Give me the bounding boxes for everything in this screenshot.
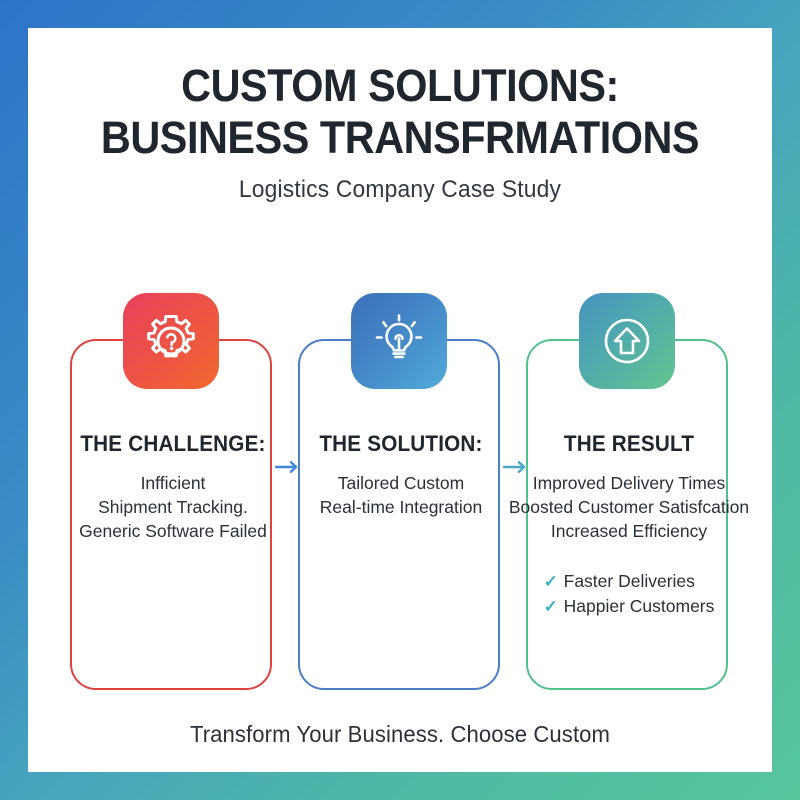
card-result-lines: Improved Delivery Times Boosted Customer… <box>498 471 760 543</box>
poster-header: CUSTOM SOLUTIONS: BUSINESS TRANSFRMATION… <box>28 60 772 204</box>
card-solution-lines: Tailored Custom Real-time Integration <box>270 471 532 519</box>
card-result: THE RESULT Improved Delivery Times Boost… <box>526 339 728 690</box>
gear-question-icon <box>123 293 219 389</box>
list-item: ✓ Happier Customers <box>544 594 715 619</box>
card-challenge: THE CHALLENGE: Infficient Shipment Track… <box>70 339 272 690</box>
card-result-heading: THE RESULT <box>506 431 752 457</box>
page-subtitle: Logistics Company Case Study <box>47 176 754 204</box>
card-challenge-line-3: Generic Software Failed <box>42 519 304 543</box>
lightbulb-icon <box>351 293 447 389</box>
bullet-label: Happier Customers <box>564 594 715 618</box>
card-solution: THE SOLUTION: Tailored Custom Real-time … <box>298 339 500 690</box>
arrow-up-circle-icon <box>579 293 675 389</box>
card-result-line-2: Boosted Customer Satisfcation <box>498 495 760 519</box>
check-icon: ✓ <box>544 595 564 619</box>
bullet-label: Faster Deliveries <box>564 569 695 593</box>
card-challenge-lines: Infficient Shipment Tracking. Generic So… <box>42 471 304 543</box>
card-solution-heading: THE SOLUTION: <box>278 431 524 457</box>
poster-canvas: CUSTOM SOLUTIONS: BUSINESS TRANSFRMATION… <box>28 28 772 772</box>
check-icon: ✓ <box>544 570 564 594</box>
card-result-body: THE RESULT Improved Delivery Times Boost… <box>498 431 760 619</box>
card-challenge-line-1: Infficient <box>42 471 304 495</box>
footer-tagline: Transform Your Business. Choose Custom <box>43 721 757 748</box>
card-result-line-1: Improved Delivery Times <box>498 471 760 495</box>
page-title-line-2: BUSINESS TRANSFRMATIONS <box>58 112 742 164</box>
card-result-line-3: Increased Efficiency <box>498 519 760 543</box>
list-item: ✓ Faster Deliveries <box>544 569 715 594</box>
card-challenge-body: THE CHALLENGE: Infficient Shipment Track… <box>42 431 304 543</box>
card-solution-line-2: Real-time Integration <box>270 495 532 519</box>
card-result-bullet-list: ✓ Faster Deliveries ✓ Happier Customers <box>544 569 715 619</box>
infographic-poster: CUSTOM SOLUTIONS: BUSINESS TRANSFRMATION… <box>0 0 800 800</box>
page-title-line-1: CUSTOM SOLUTIONS: <box>58 60 742 112</box>
card-challenge-heading: THE CHALLENGE: <box>50 431 296 457</box>
card-solution-body: THE SOLUTION: Tailored Custom Real-time … <box>270 431 532 519</box>
card-solution-line-1: Tailored Custom <box>270 471 532 495</box>
card-challenge-line-2: Shipment Tracking. <box>42 495 304 519</box>
